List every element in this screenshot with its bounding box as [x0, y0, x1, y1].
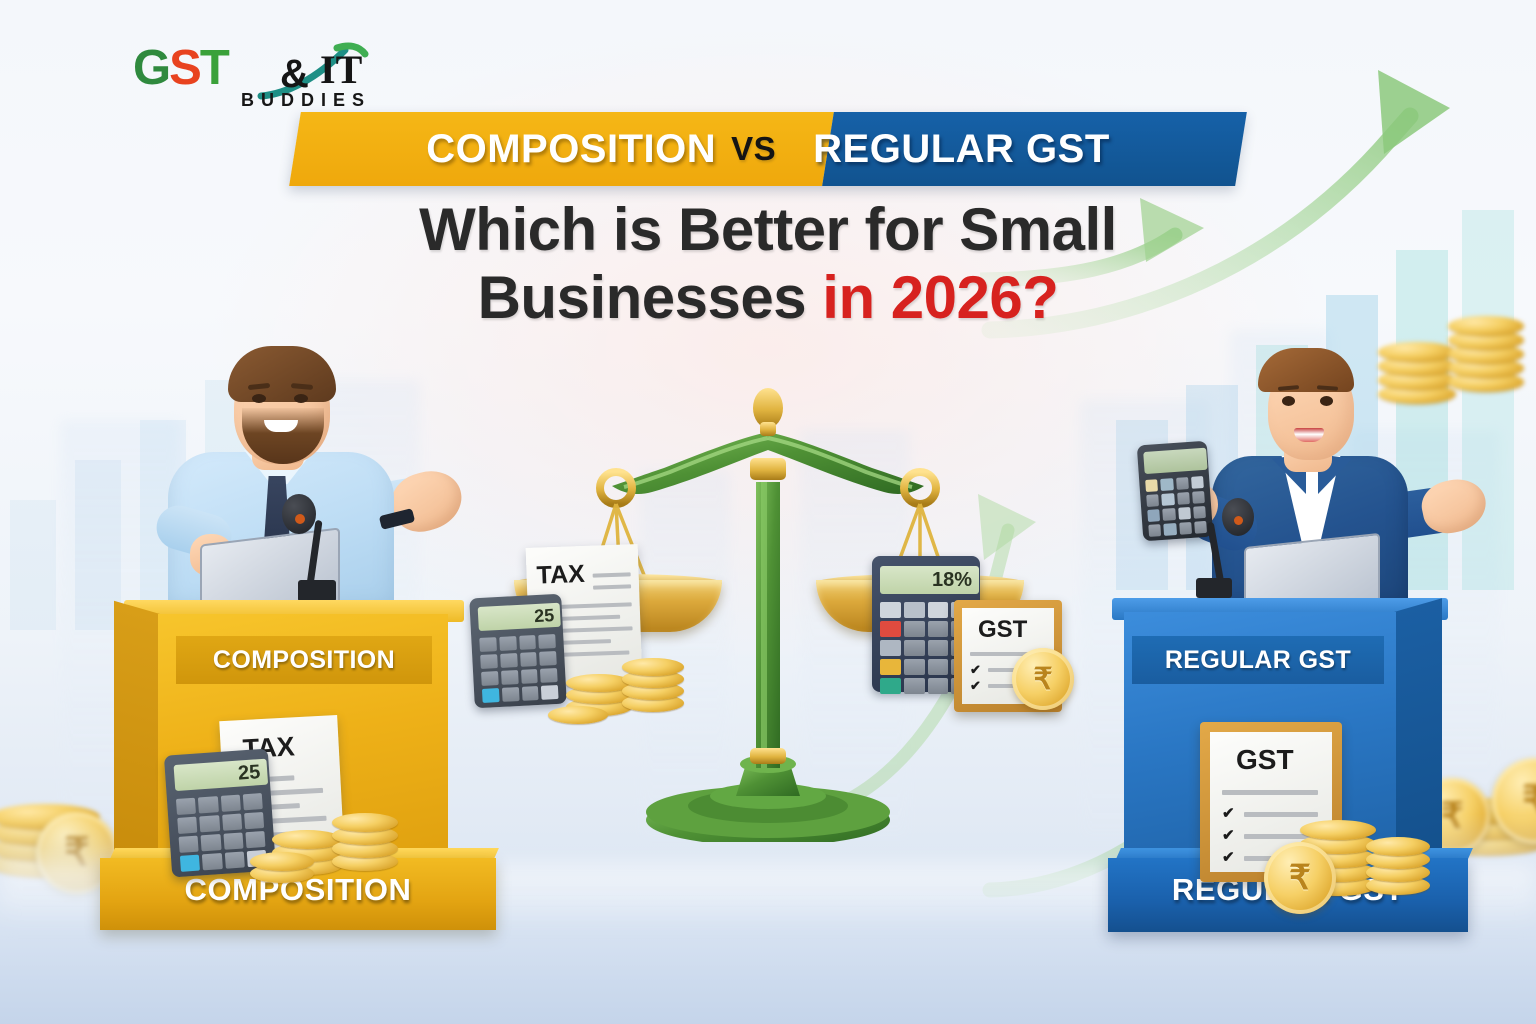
presenter-hair	[228, 346, 336, 402]
microphone-dot	[295, 514, 305, 524]
gst-document-title: GST	[1236, 744, 1294, 776]
calculator-keypad-handheld	[1145, 476, 1207, 537]
calculator-display-left: 25	[174, 759, 269, 791]
logo-letter-s: S	[169, 41, 200, 95]
gst-clipboard-title: GST	[978, 616, 1027, 644]
headline-block: Which is Better for Small Businesses in …	[0, 196, 1536, 333]
checkmark-icon: ✔	[1222, 804, 1235, 822]
brand-logo[interactable]: GST & IT BUDDIES	[133, 44, 383, 106]
checkmark-icon: ✔	[1222, 848, 1235, 866]
microphone-dot	[1234, 516, 1243, 525]
vs-banner: COMPOSITION VS REGULAR GST	[289, 112, 1247, 186]
banner-label-regular-gst: REGULAR GST	[813, 127, 1110, 172]
podium-left-plate: COMPOSITION	[176, 636, 432, 684]
headline-line-2: Businesses in 2026?	[0, 264, 1536, 332]
podium-left-side	[114, 601, 160, 864]
podium-left-plate-label: COMPOSITION	[176, 636, 432, 684]
headline-businesses: Businesses	[478, 264, 807, 331]
calculator-handheld	[1137, 441, 1214, 542]
checkmark-icon: ✔	[1222, 826, 1235, 844]
checkmark-icon: ✔	[970, 678, 981, 694]
headline-year-accent: in 2026?	[822, 264, 1058, 331]
rupee-symbol-icon: ₹	[1012, 648, 1074, 710]
banner-label-composition: COMPOSITION	[426, 127, 716, 172]
banner-text-row: COMPOSITION VS REGULAR GST	[295, 112, 1241, 186]
calculator-scale-left: 25	[469, 594, 567, 709]
banner-label-vs: VS	[731, 130, 776, 168]
logo-ampersand: &	[280, 54, 309, 94]
logo-it-text: IT	[320, 50, 362, 90]
tax-document-scale-title: TAX	[536, 560, 585, 591]
presenter-hand-open	[385, 463, 468, 538]
logo-letter-t: T	[200, 41, 228, 95]
presenter-eye-right	[294, 394, 308, 403]
calculator-display-scale-right: 18%	[880, 566, 979, 594]
rupee-symbol-icon: ₹	[1264, 842, 1336, 914]
calculator-keypad-scale-left	[479, 634, 558, 703]
logo-letter-g: G	[133, 41, 169, 95]
checkmark-icon: ✔	[970, 662, 981, 678]
logo-tagline: BUDDIES	[241, 90, 371, 111]
poster-canvas: ₹ ₹ ₹ GST & IT BUDDIES COMPOSITION VS RE…	[0, 0, 1536, 1024]
presenter-eye-right	[1320, 396, 1333, 406]
presenter-eye-left	[252, 394, 266, 403]
podium-right-plate: REGULAR GST	[1132, 636, 1384, 684]
podium-right-side	[1394, 598, 1442, 864]
calculator-display-handheld	[1143, 448, 1207, 474]
podium-right-plate-label: REGULAR GST	[1132, 636, 1384, 684]
presenter-hair-fringe	[1258, 348, 1354, 392]
logo-wordmark: GST	[133, 44, 228, 93]
calculator-display-scale-left: 25	[478, 603, 561, 631]
presenter-eye-left	[1282, 396, 1295, 406]
headline-line-1: Which is Better for Small	[0, 196, 1536, 264]
rupee-symbol-icon: ₹	[1492, 758, 1536, 844]
